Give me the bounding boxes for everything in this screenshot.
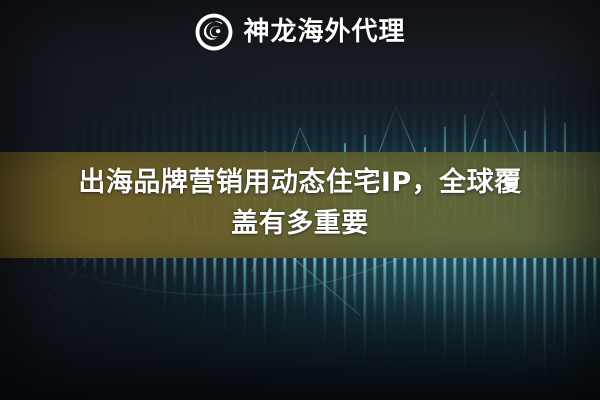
brand-logo-text: 神龙海外代理 (243, 19, 405, 45)
page-title-line-1: 出海品牌营销用动态住宅IP，全球覆 (16, 162, 584, 203)
banner-image: 神龙海外代理 出海品牌营销用动态住宅IP，全球覆 盖有多重要 (0, 0, 600, 400)
dragon-swirl-icon (194, 12, 234, 52)
bottom-dark-overlay (0, 250, 600, 400)
page-title-line-2: 盖有多重要 (16, 203, 584, 244)
page-title: 出海品牌营销用动态住宅IP，全球覆 盖有多重要 (0, 162, 600, 244)
brand-logo: 神龙海外代理 (0, 12, 600, 52)
